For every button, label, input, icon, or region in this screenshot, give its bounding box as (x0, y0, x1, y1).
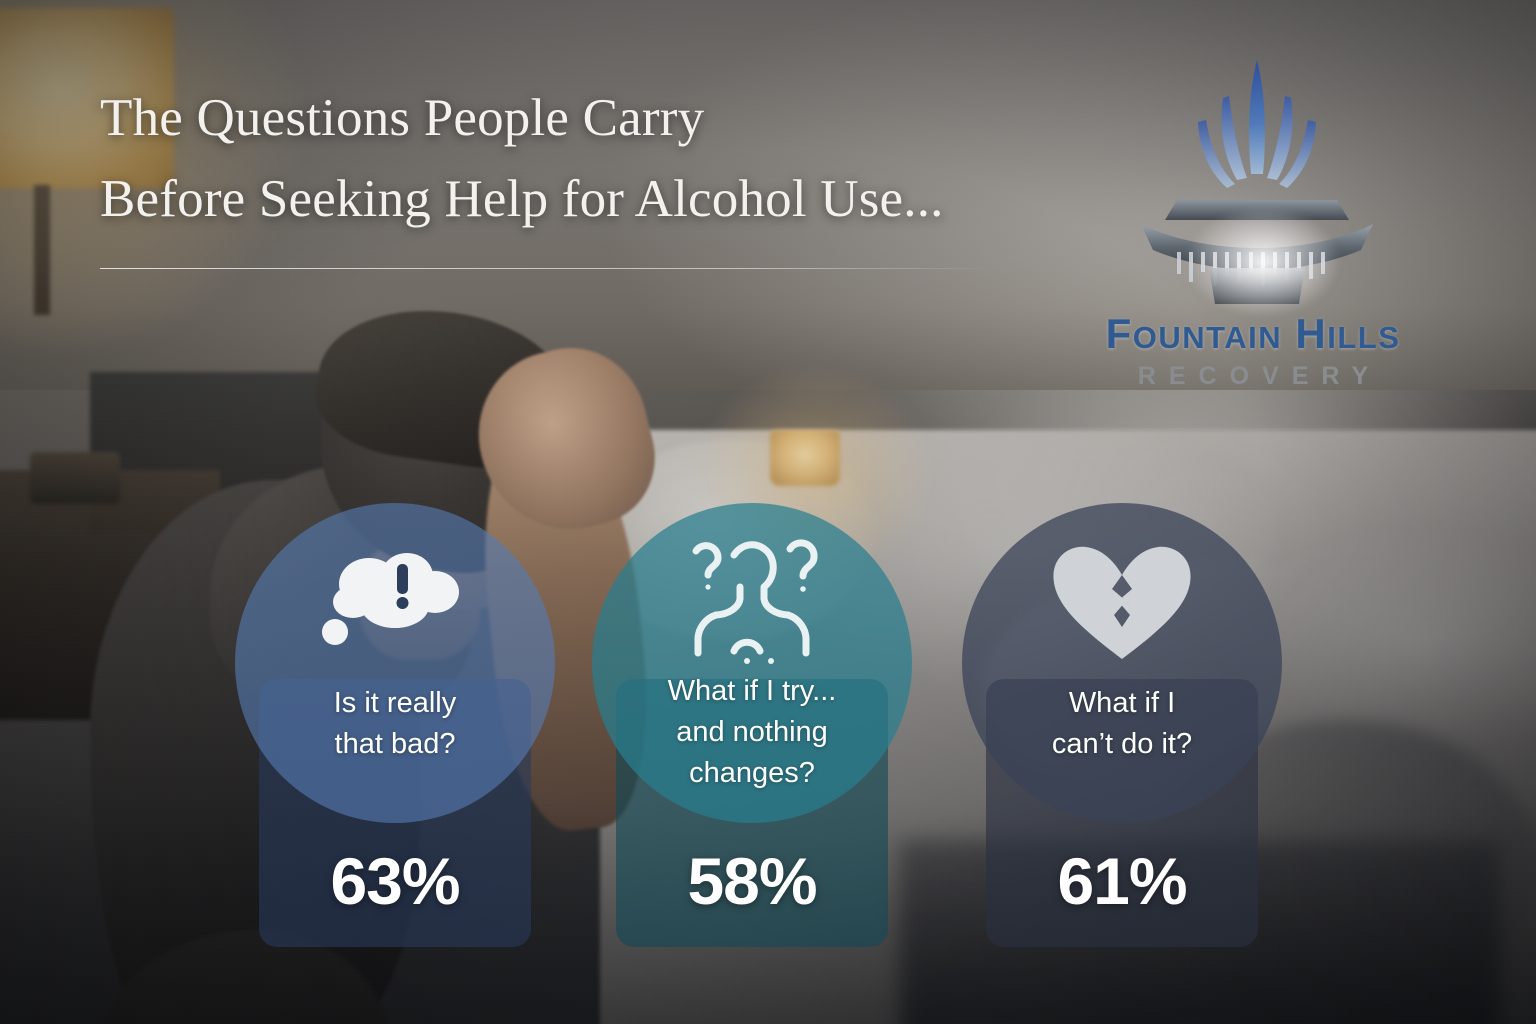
broken-heart-icon (962, 535, 1282, 665)
stat-card-what-if-i-cant-do-it: What if I can’t do it? 61% (962, 503, 1282, 953)
confused-person-question-icon (592, 535, 912, 665)
stat-card-percent: 61% (962, 843, 1282, 919)
question-line-1: Is it really (334, 687, 456, 719)
question-line-1: What if I (1069, 687, 1175, 719)
thought-cloud-exclamation-icon (235, 535, 555, 665)
question-line-2: that bad? (335, 728, 456, 760)
stat-card-what-if-nothing-changes: What if I try... and nothing changes? 58… (592, 503, 912, 953)
question-line-3: changes? (689, 757, 815, 789)
stat-card-percent: 63% (235, 843, 555, 919)
stat-card-percent: 58% (592, 843, 912, 919)
stat-card-question: What if I can’t do it? (972, 683, 1272, 765)
question-line-2: and nothing (676, 716, 828, 748)
stat-card-group: Is it really that bad? 63% (0, 0, 1536, 1024)
question-line-2: can’t do it? (1052, 728, 1192, 760)
stat-card-question: Is it really that bad? (245, 683, 545, 765)
stat-card-question: What if I try... and nothing changes? (602, 671, 902, 795)
infographic-canvas: The Questions People Carry Before Seekin… (0, 0, 1536, 1024)
question-line-1: What if I try... (668, 675, 837, 707)
stat-card-is-it-really-that-bad: Is it really that bad? 63% (235, 503, 555, 953)
